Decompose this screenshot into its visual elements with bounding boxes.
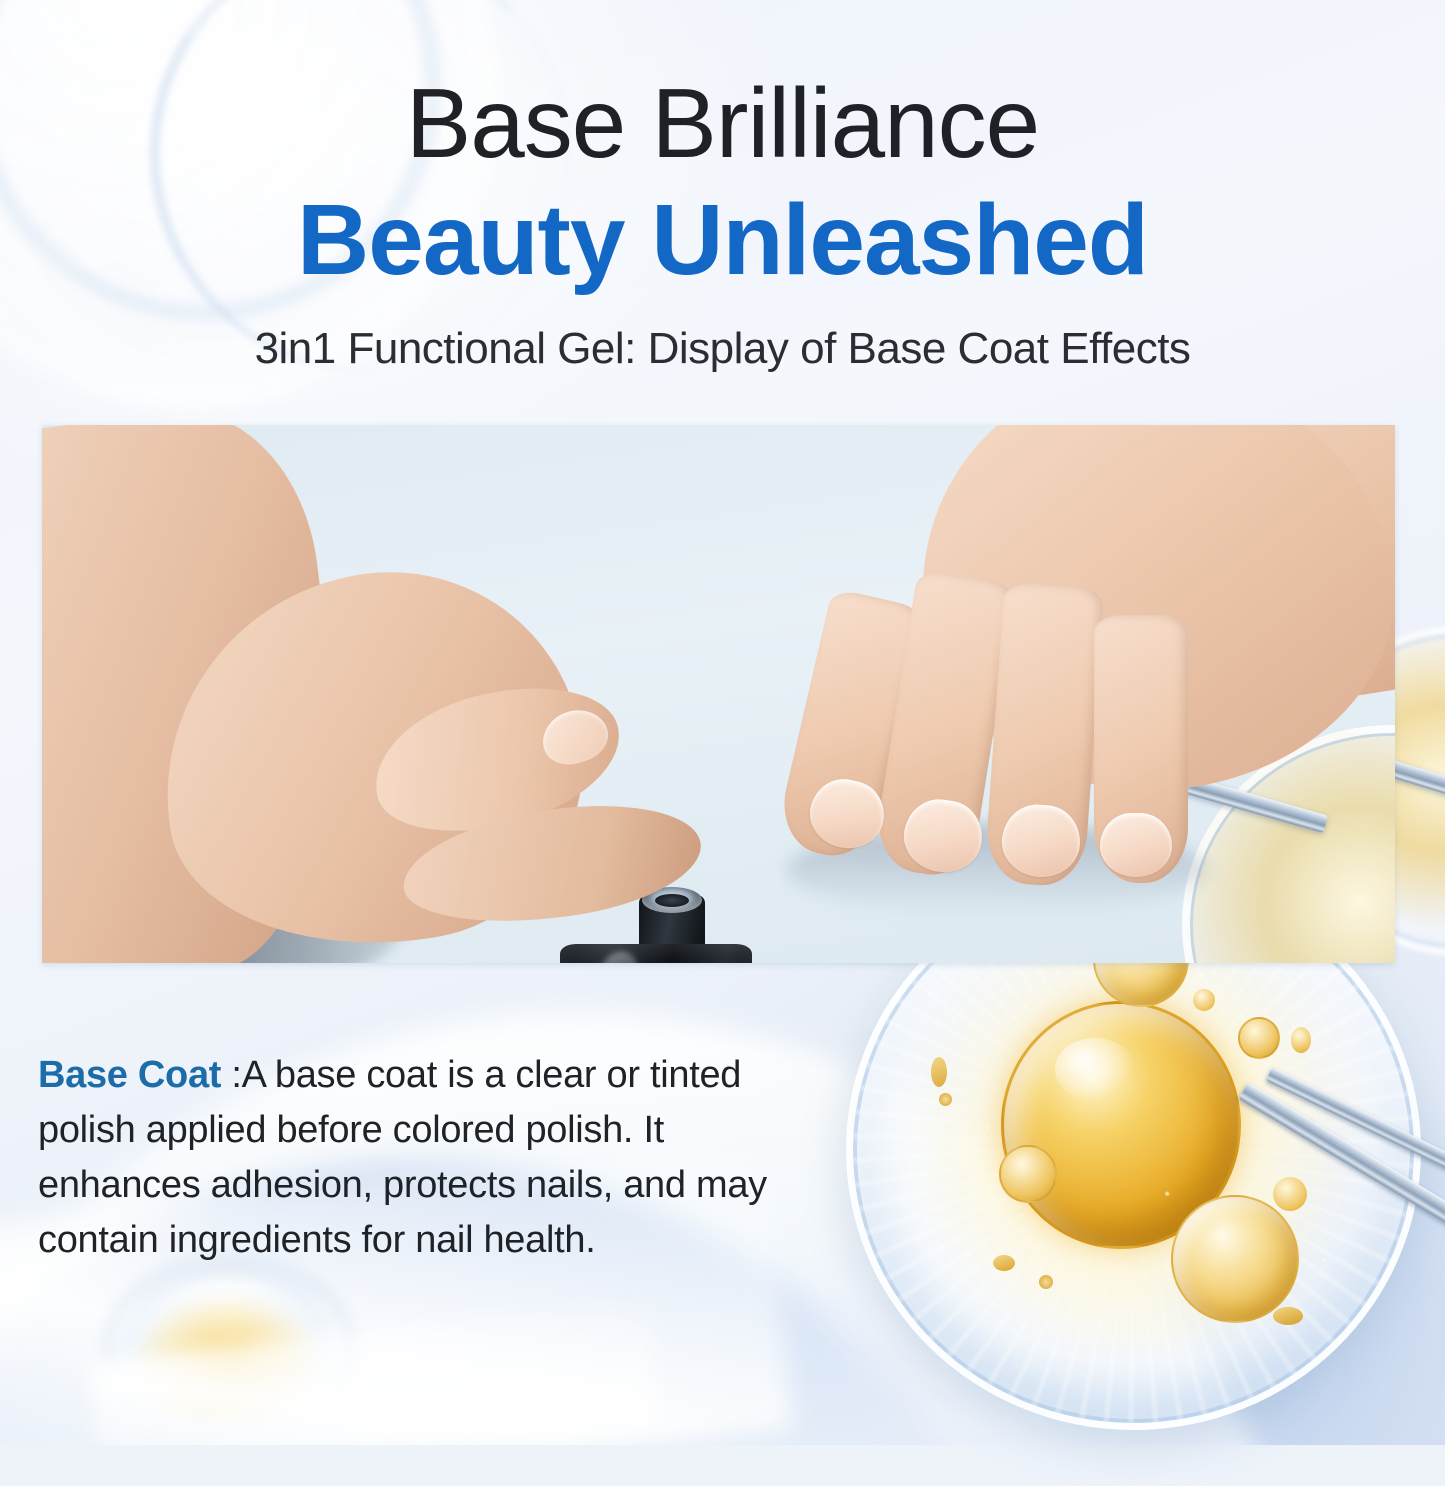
- description-term: Base Coat: [38, 1054, 221, 1096]
- description-separator: :: [221, 1054, 242, 1096]
- headline-primary: Base Brilliance: [0, 74, 1445, 172]
- headline-subtitle: 3in1 Functional Gel: Display of Base Coa…: [0, 324, 1445, 374]
- description-block: Base Coat :A base coat is a clear or tin…: [38, 1048, 778, 1268]
- right-hand-nail: [1100, 813, 1172, 877]
- description-paragraph: Base Coat :A base coat is a clear or tin…: [38, 1048, 778, 1268]
- header: Base Brilliance Beauty Unleashed 3in1 Fu…: [0, 0, 1445, 374]
- product-bottle: [560, 944, 752, 963]
- bottle-mouth-inner: [655, 894, 689, 907]
- hero-photo: MODELONES® RUBBER BASE COAT SOAK-OFF UV&…: [42, 425, 1395, 963]
- headline-accent: Beauty Unleashed: [0, 190, 1445, 290]
